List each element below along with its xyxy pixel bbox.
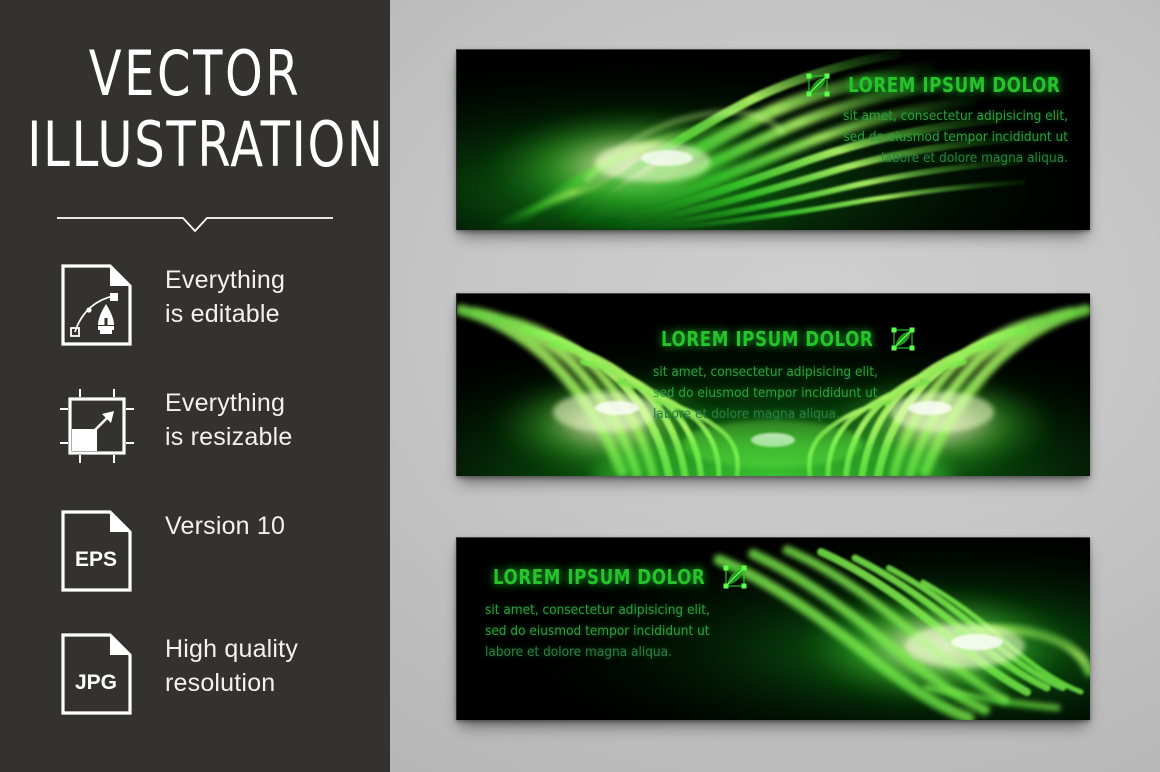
banner-body-line-1: sit amet, consectetur adipisicing elit,: [805, 106, 1068, 127]
banner-wings-pair[interactable]: LOREM IPSUM DOLOR sit amet, consectetur …: [456, 293, 1090, 476]
feature-label-quality: High quality resolution: [165, 633, 380, 700]
feature-label-editable: Everything is editable: [165, 264, 380, 331]
banner-body-line-2: sed do eiusmod tempor incididunt ut: [485, 621, 748, 642]
banner-text-block: LOREM IPSUM DOLOR sit amet, consectetur …: [485, 564, 748, 663]
feature-label-resizable: Everything is resizable: [165, 387, 380, 454]
left-info-panel: VECTOR ILLUSTRATION: [0, 0, 390, 772]
feature-item-resizable: Everything is resizable: [0, 381, 390, 504]
banner-body-line-1: sit amet, consectetur adipisicing elit,: [485, 600, 748, 621]
banner-body-line-3: labore et dolore magna aliqua.: [485, 642, 748, 663]
poster-canvas: VECTOR ILLUSTRATION: [0, 0, 1160, 772]
banner-heading: LOREM IPSUM DOLOR: [848, 73, 1060, 97]
feature-item-editable: Everything is editable: [0, 258, 390, 381]
divider-chevron-icon: [57, 206, 333, 238]
jpg-file-icon: JPG: [58, 631, 136, 717]
banner-heading: LOREM IPSUM DOLOR: [493, 565, 705, 589]
title-line-1: VECTOR: [27, 44, 362, 105]
feature-label-line-2: is editable: [165, 298, 380, 332]
page-title: VECTOR ILLUSTRATION: [0, 44, 390, 176]
resize-crop-arrow-icon: [58, 385, 136, 471]
banner-body-line-1: sit amet, consectetur adipisicing elit,: [653, 362, 916, 383]
feature-label-line-1: High quality: [165, 633, 380, 667]
banner-wing-right[interactable]: LOREM IPSUM DOLOR sit amet, consectetur …: [456, 537, 1090, 720]
feature-item-jpg: JPG High quality resolution: [0, 627, 390, 750]
banner-heading-row: LOREM IPSUM DOLOR: [485, 564, 748, 590]
banner-heading-row: LOREM IPSUM DOLOR: [805, 72, 1068, 98]
feature-list: Everything is editable: [0, 258, 390, 750]
banner-body: sit amet, consectetur adipisicing elit, …: [485, 600, 748, 663]
banner-body-line-3: labore et dolore magna aliqua.: [653, 404, 916, 425]
banner-heading: LOREM IPSUM DOLOR: [661, 327, 873, 351]
divider: [57, 206, 333, 238]
banner-body-line-3: labore et dolore magna aliqua.: [805, 148, 1068, 169]
banner-text-block: LOREM IPSUM DOLOR sit amet, consectetur …: [805, 72, 1068, 169]
banner-body: sit amet, consectetur adipisicing elit, …: [805, 106, 1068, 169]
banner-body: sit amet, consectetur adipisicing elit, …: [653, 362, 916, 425]
leaf-vector-node-icon: [890, 326, 916, 352]
eps-file-icon-label: EPS: [75, 548, 117, 571]
leaf-vector-node-icon: [805, 72, 831, 98]
banner-text-block: LOREM IPSUM DOLOR sit amet, consectetur …: [653, 326, 916, 425]
feature-item-eps: EPS Version 10: [0, 504, 390, 627]
feature-label-version: Version 10: [165, 510, 380, 544]
jpg-file-icon-label: JPG: [75, 671, 117, 694]
document-pen-tool-icon: [58, 262, 136, 348]
banner-body-line-2: sed do eiusmod tempor incididunt ut: [805, 127, 1068, 148]
feature-label-line-2: is resizable: [165, 421, 380, 455]
feature-label-line-1: Everything: [165, 387, 380, 421]
banner-wing-left[interactable]: LOREM IPSUM DOLOR sit amet, consectetur …: [456, 49, 1090, 230]
leaf-vector-node-icon: [722, 564, 748, 590]
banner-body-line-2: sed do eiusmod tempor incididunt ut: [653, 383, 916, 404]
title-line-2: ILLUSTRATION: [27, 115, 362, 176]
eps-file-icon: EPS: [58, 508, 136, 594]
feature-label-line-1: Everything: [165, 264, 380, 298]
feature-label-line-2: resolution: [165, 667, 380, 701]
banner-heading-row: LOREM IPSUM DOLOR: [653, 326, 916, 352]
feature-label-line-1: Version 10: [165, 510, 380, 544]
